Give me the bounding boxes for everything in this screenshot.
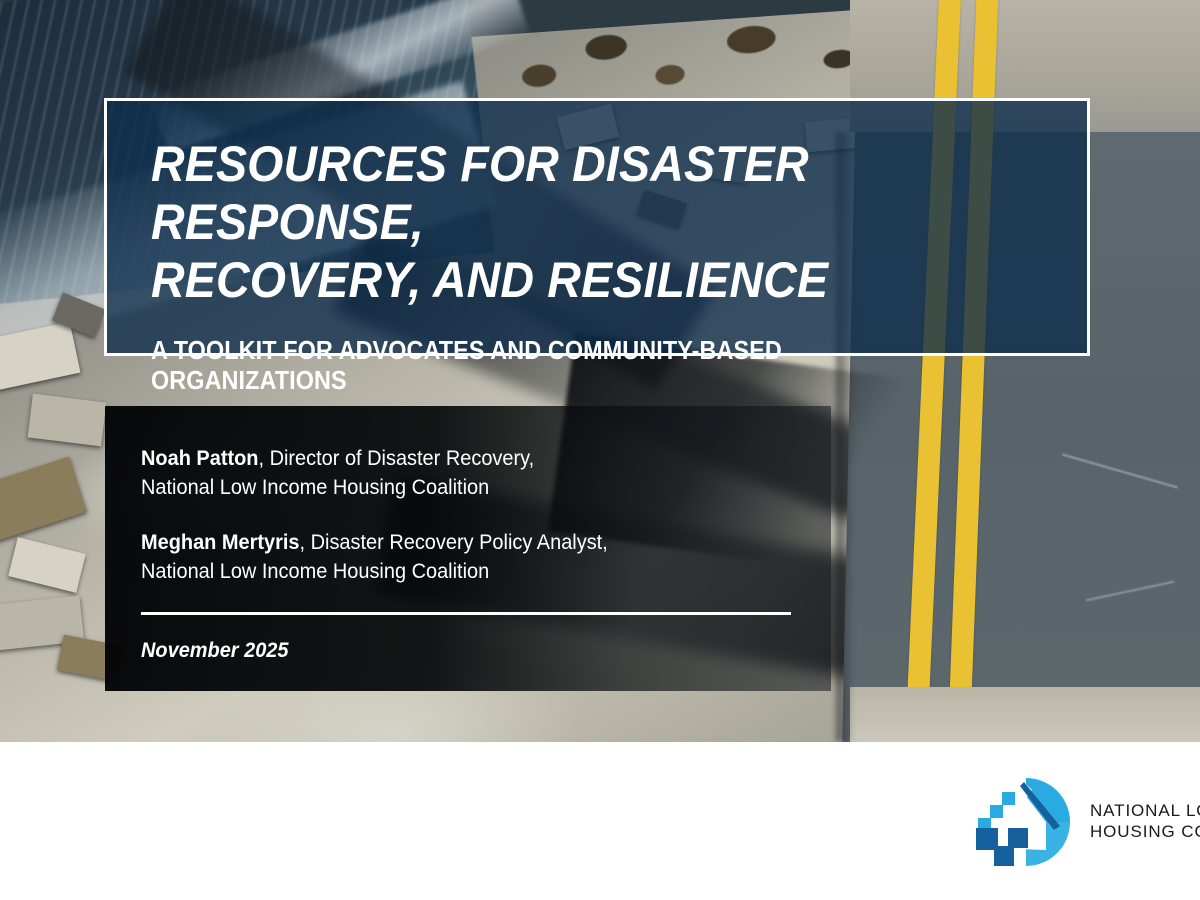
footer-bar: NATIONAL LOW INCO HOUSING COALITION (0, 742, 1200, 900)
author-organization: National Low Income Housing Coalition (141, 473, 797, 502)
author-credits-block: Noah Patton, Director of Disaster Recove… (105, 406, 831, 691)
author-name: Noah Patton (141, 447, 258, 470)
report-cover-page: RESOURCES FOR DISASTER RESPONSE, RECOVER… (0, 0, 1200, 900)
page-title: RESOURCES FOR DISASTER RESPONSE, RECOVER… (151, 135, 984, 309)
divider-rule (141, 612, 791, 615)
road-bottom-shoulder (850, 687, 1200, 742)
nlihc-house-logo-icon (968, 770, 1084, 866)
logo-wordmark-line-2: HOUSING COALITION (1090, 821, 1200, 842)
logo-wordmark-line-1: NATIONAL LOW INCO (1090, 800, 1200, 821)
author-organization: National Low Income Housing Coalition (141, 557, 797, 586)
title-banner: RESOURCES FOR DISASTER RESPONSE, RECOVER… (104, 98, 1090, 356)
publication-date: November 2025 (141, 639, 797, 663)
cover-background-photo: RESOURCES FOR DISASTER RESPONSE, RECOVER… (0, 0, 1200, 742)
nlihc-logo: NATIONAL LOW INCO HOUSING COALITION (968, 770, 1200, 874)
author-name: Meghan Mertyris (141, 531, 300, 554)
author-role: , Director of Disaster Recovery, (258, 447, 534, 470)
logo-wordmark: NATIONAL LOW INCO HOUSING COALITION (1090, 800, 1200, 842)
author-entry: Noah Patton, Director of Disaster Recove… (141, 444, 797, 502)
author-entry: Meghan Mertyris, Disaster Recovery Polic… (141, 528, 797, 586)
author-role: , Disaster Recovery Policy Analyst, (300, 531, 608, 554)
page-subtitle: A TOOLKIT FOR ADVOCATES AND COMMUNITY-BA… (151, 335, 957, 395)
rubble-chunk (28, 394, 107, 447)
